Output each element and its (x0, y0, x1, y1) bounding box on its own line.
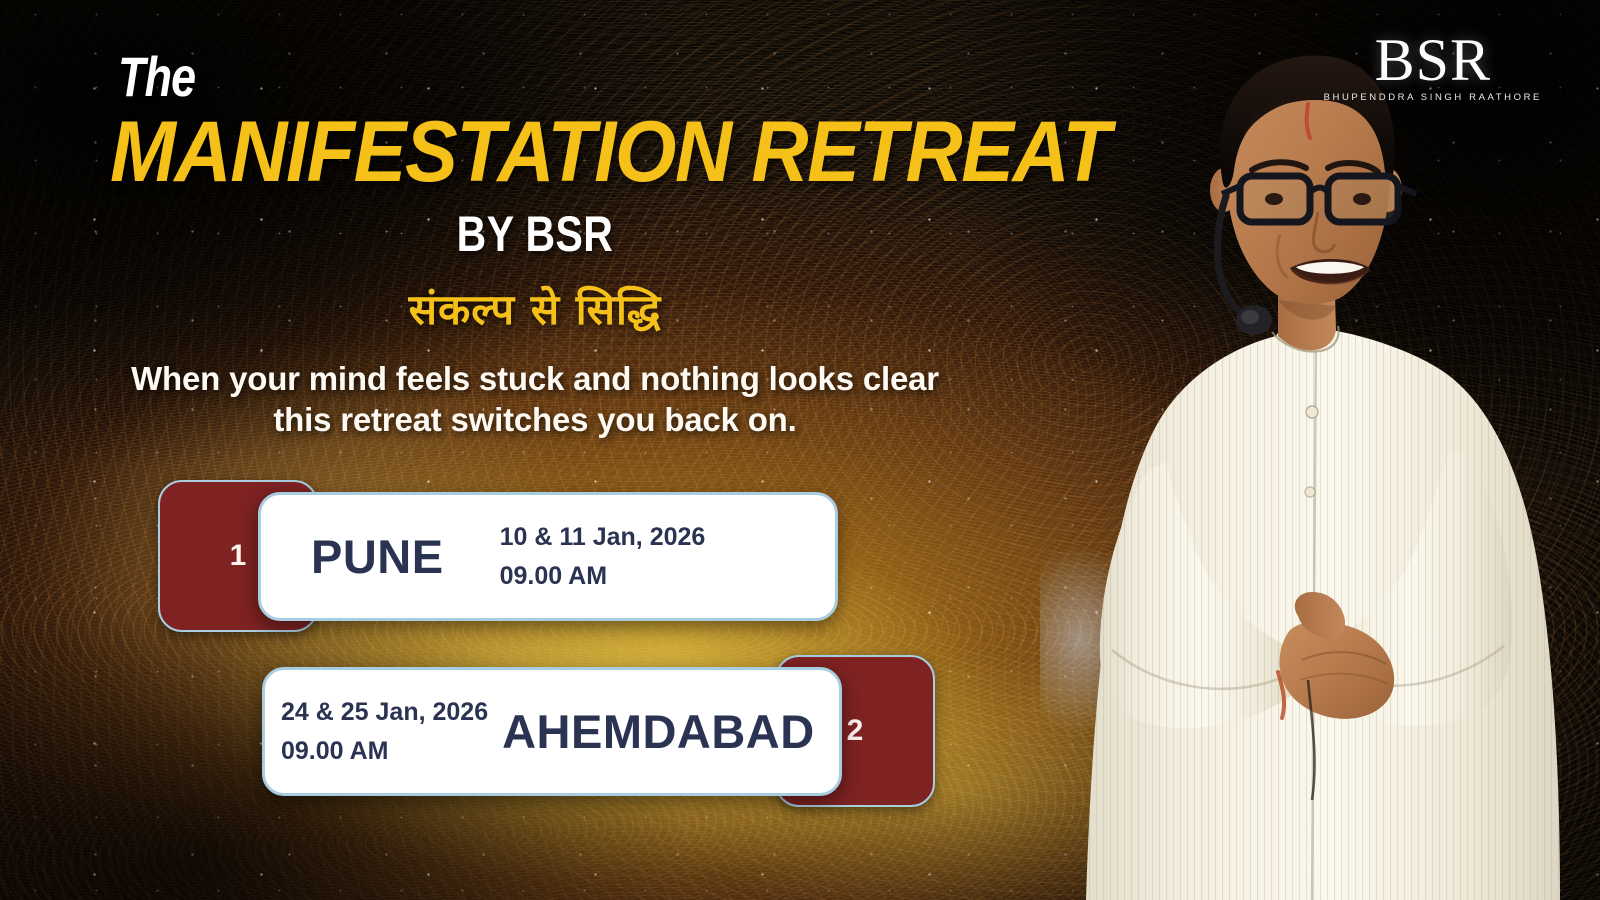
event-time: 09.00 AM (500, 557, 706, 596)
page-title: MANIFESTATION RETREAT (110, 103, 993, 202)
event-card-panel[interactable]: PUNE 10 & 11 Jan, 2026 09.00 AM (258, 492, 838, 621)
logo-subtitle: BHUPENDDRA SINGH RAATHORE (1324, 93, 1542, 103)
event-city: AHEMDABAD (502, 704, 815, 759)
event-number: 1 (230, 539, 247, 573)
bsr-logo: BSR BHUPENDDRA SINGH RAATHORE (1324, 30, 1542, 103)
event-city: PUNE (311, 529, 444, 584)
event-dates: 10 & 11 Jan, 2026 (500, 518, 706, 557)
hero-hindi-tagline: संकल्प से सिद्धि (0, 280, 1070, 337)
hero-tagline-line-1: When your mind feels stuck and nothing l… (0, 358, 1070, 399)
hero-byline: BY BSR (96, 205, 973, 263)
event-schedule: 24 & 25 Jan, 2026 09.00 AM (281, 693, 488, 771)
speaker-portrait (1040, 0, 1600, 900)
logo-wordmark: BSR (1324, 30, 1542, 90)
event-card-panel[interactable]: 24 & 25 Jan, 2026 09.00 AM AHEMDABAD (262, 667, 842, 796)
event-time: 09.00 AM (281, 732, 488, 771)
event-schedule: 10 & 11 Jan, 2026 09.00 AM (500, 518, 706, 596)
event-number: 2 (847, 714, 864, 748)
hero-tagline: When your mind feels stuck and nothing l… (0, 358, 1070, 441)
hero-tagline-line-2: this retreat switches you back on. (0, 399, 1070, 440)
promo-banner: BSR BHUPENDDRA SINGH RAATHORE The MANIFE… (0, 0, 1600, 900)
event-dates: 24 & 25 Jan, 2026 (281, 693, 488, 732)
hero-eyebrow: The (118, 44, 195, 109)
